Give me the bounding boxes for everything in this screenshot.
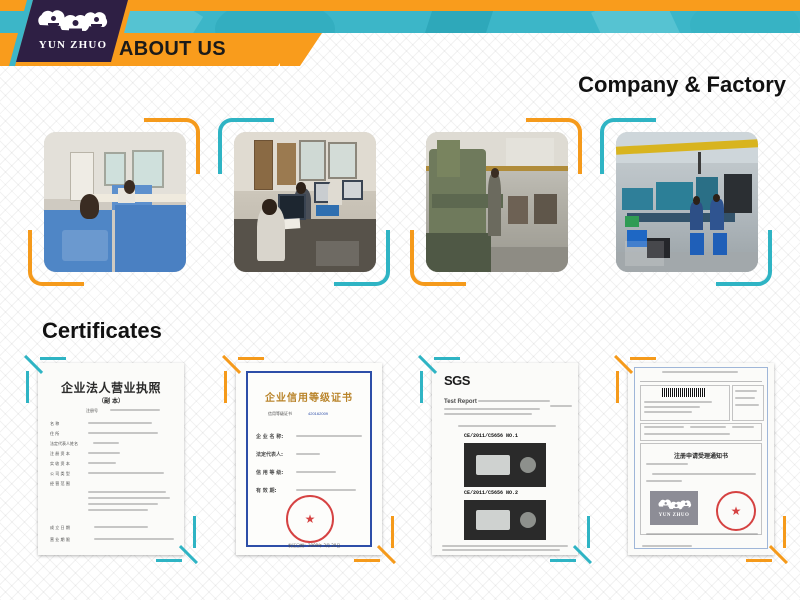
cert-no: 420162009 bbox=[308, 411, 328, 416]
company-logo[interactable]: YUN ZHUO bbox=[9, 0, 131, 66]
sgs-sample-photo-1 bbox=[464, 443, 546, 487]
cert-bracket-top-left bbox=[616, 357, 656, 403]
cert-issue-line: 发证日期：2009年 3月 20日 bbox=[288, 543, 340, 549]
cloud-people-logo-icon bbox=[31, 8, 111, 38]
photo-frame-engineering-office[interactable] bbox=[218, 118, 390, 286]
cloud-people-logo-icon bbox=[655, 498, 693, 513]
cert-field-0: 企 业 名 称: bbox=[256, 433, 283, 440]
photo-frame-assembly-line[interactable] bbox=[600, 118, 772, 286]
cert-bracket-top-left bbox=[224, 357, 264, 403]
cert-field-3: 注 册 资 本 bbox=[50, 451, 70, 457]
cert-no-label: 信用等级证书 bbox=[268, 411, 292, 417]
cert-footer-0: 成 立 日 期 bbox=[50, 525, 70, 531]
cert-footer-1: 营 业 期 限 bbox=[50, 537, 70, 543]
photo-frame-office-workstations[interactable] bbox=[28, 118, 200, 286]
cert-reg-label: 注册号 bbox=[86, 408, 98, 414]
trademark-logo-text: YUN ZHUO bbox=[659, 513, 690, 518]
cert-field-4: 实 收 资 本 bbox=[50, 461, 70, 467]
cert-title: 注册申请受理通知书 bbox=[628, 451, 774, 460]
cert-field-3: 有 效 期: bbox=[256, 487, 276, 494]
sgs-sample-photo-2 bbox=[464, 500, 546, 540]
cert-bracket-top-left bbox=[420, 357, 460, 403]
red-seal-stamp: ★ bbox=[286, 495, 334, 543]
trademark-logo: YUN ZHUO bbox=[650, 491, 698, 525]
banner-title: ABOUT US bbox=[119, 34, 226, 65]
frame-bracket-bottom-left bbox=[28, 230, 84, 286]
frame-bracket-bottom-right bbox=[716, 230, 772, 286]
cert-field-2: 信 用 等 级: bbox=[256, 469, 283, 476]
cert-field-0: 名 称 bbox=[50, 421, 59, 427]
logo-wordmark: YUN ZHUO bbox=[27, 39, 119, 51]
cert-field-1: 法定代表人: bbox=[256, 451, 283, 458]
sgs-sample-label-1: CE/2011/C5656 NO.1 bbox=[464, 433, 518, 439]
frame-bracket-bottom-left bbox=[410, 230, 466, 286]
cert-bracket-bottom-right bbox=[354, 516, 394, 562]
cert-field-6: 经 营 范 围 bbox=[50, 481, 70, 487]
cert-field-2: 法定代表人姓名 bbox=[50, 441, 78, 447]
cert-bracket-bottom-right bbox=[550, 516, 590, 562]
frame-bracket-top-left bbox=[218, 118, 274, 174]
frame-bracket-top-left bbox=[600, 118, 656, 174]
photo-frame-machining-workshop[interactable] bbox=[410, 118, 582, 286]
about-us-page: ABOUT US YUN ZHUO bbox=[0, 0, 800, 600]
sgs-sample-label-2: CE/2011/C5656 NO.2 bbox=[464, 490, 518, 496]
header-title-band-tail bbox=[280, 33, 360, 66]
cert-bracket-top-left bbox=[26, 357, 66, 403]
page-header: ABOUT US YUN ZHUO bbox=[0, 0, 800, 72]
cert-field-1: 住 所 bbox=[50, 431, 59, 437]
frame-bracket-top-right bbox=[526, 118, 582, 174]
section-title-company-factory: Company & Factory bbox=[578, 72, 786, 98]
certificate-sgs-test-report[interactable]: SGS Test Report CE/2011/C5656 NO.1 CE/20… bbox=[420, 357, 590, 562]
photo-watermark bbox=[625, 241, 665, 266]
frame-bracket-top-right bbox=[144, 118, 200, 174]
certificate-trademark-registration[interactable]: 注册申请受理通知书 bbox=[616, 357, 786, 562]
certificate-business-license[interactable]: 企业法人营业执照 （副 本） 注册号 名 称 住 所 法定代表人姓名 注 册 资… bbox=[26, 357, 196, 562]
frame-bracket-bottom-right bbox=[334, 230, 390, 286]
cert-bracket-bottom-right bbox=[746, 516, 786, 562]
section-title-certificates: Certificates bbox=[42, 318, 162, 344]
certificate-credit-rating[interactable]: 企业信用等级证书 信用等级证书 420162009 企 业 名 称: 法定代表人… bbox=[224, 357, 394, 562]
cert-field-5: 公 司 类 型 bbox=[50, 471, 70, 477]
cert-bracket-bottom-right bbox=[156, 516, 196, 562]
